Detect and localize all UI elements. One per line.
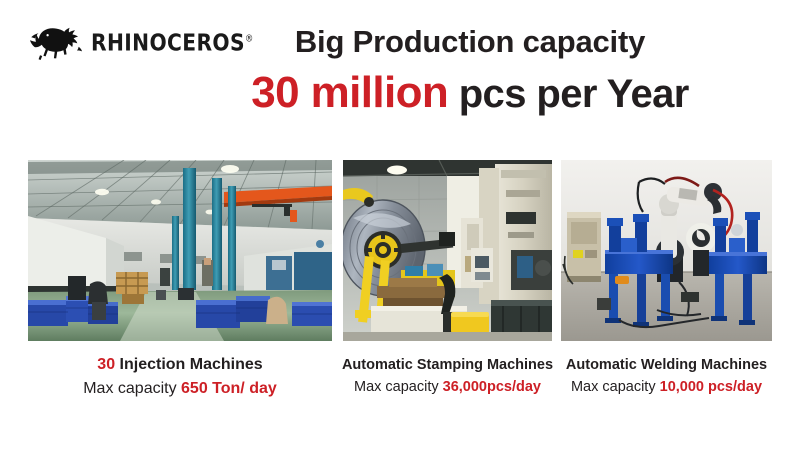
caption-2-label: Max capacity — [354, 379, 443, 395]
injection-molding-workshop-photo — [28, 160, 332, 341]
caption-3-line-1: Automatic Welding Machines — [558, 355, 775, 377]
automatic-welding-robot-cell-photo — [561, 160, 772, 341]
caption-1-line-2: Max capacity 650 Ton/ day — [28, 377, 332, 401]
caption-2-line-1: Automatic Stamping Machines — [338, 355, 557, 377]
caption-stamping-machines: Automatic Stamping Machines Max capacity… — [338, 355, 557, 399]
headline-line-2-rest: pcs per Year — [448, 72, 689, 116]
caption-1-line-1: 30 Injection Machines — [28, 353, 332, 377]
headline-line-2: 30 million pcs per Year — [160, 68, 780, 117]
caption-3-label: Max capacity — [571, 379, 660, 395]
caption-2-title: Automatic Stamping Machines — [342, 357, 553, 373]
caption-welding-machines: Automatic Welding Machines Max capacity … — [558, 355, 775, 399]
slide-canvas: RHINOCEROS® Big Production capacity 30 m… — [0, 0, 800, 450]
photo-row — [0, 160, 800, 341]
caption-3-title: Automatic Welding Machines — [566, 357, 767, 373]
caption-1-count: 30 — [97, 356, 115, 373]
caption-2-value: 36,000pcs/day — [443, 379, 541, 395]
caption-3-value: 10,000 pcs/day — [660, 379, 762, 395]
caption-1-value: 650 Ton/ day — [181, 380, 277, 397]
caption-3-line-2: Max capacity 10,000 pcs/day — [558, 377, 775, 399]
headline-highlight: 30 million — [251, 68, 448, 117]
caption-1-label: Max capacity — [83, 380, 181, 397]
headline-line-1: Big Production capacity — [160, 24, 780, 60]
automatic-stamping-press-photo — [343, 160, 552, 341]
caption-1-title: Injection Machines — [115, 356, 263, 373]
caption-2-line-2: Max capacity 36,000pcs/day — [338, 377, 557, 399]
headline: Big Production capacity 30 million pcs p… — [160, 24, 780, 117]
caption-injection-machines: 30 Injection Machines Max capacity 650 T… — [28, 353, 332, 401]
rhino-silhouette-icon — [26, 21, 88, 67]
